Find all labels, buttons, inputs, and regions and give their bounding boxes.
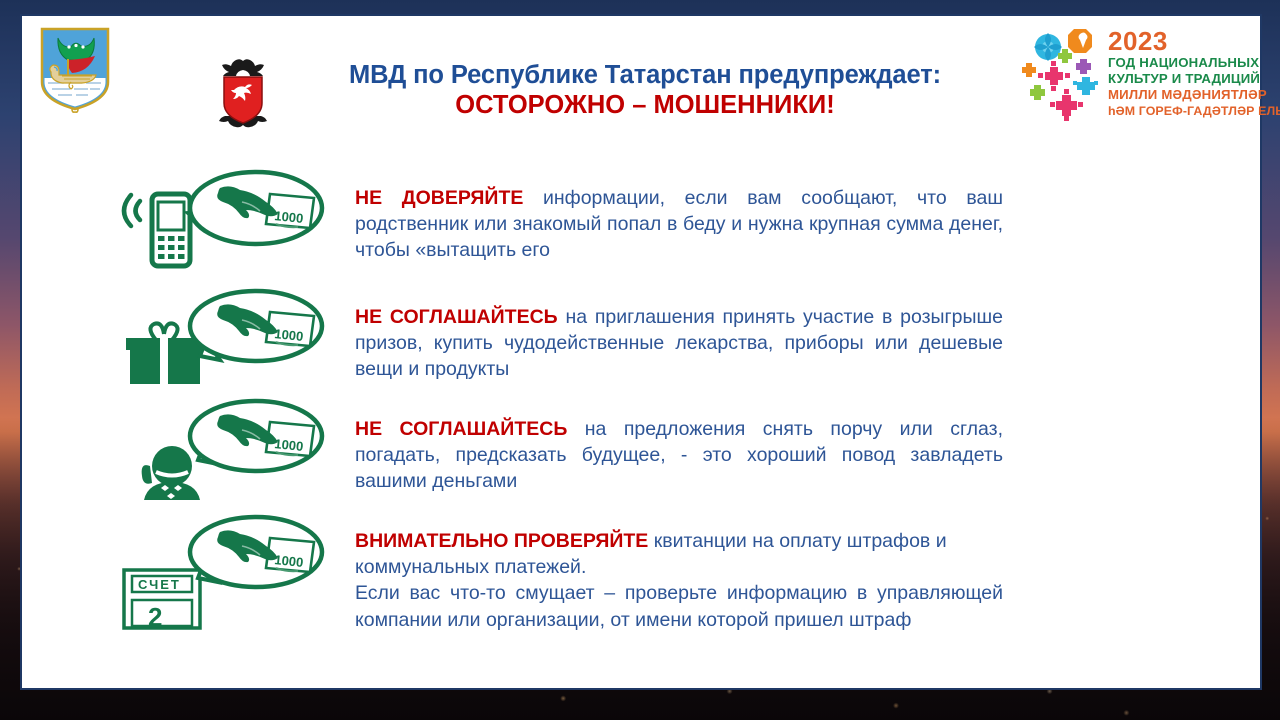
svg-text:МИЛЛИ МӘДӘНИЯТЛӘР: МИЛЛИ МӘДӘНИЯТЛӘР bbox=[1108, 87, 1267, 102]
svg-text:1000: 1000 bbox=[274, 326, 304, 344]
mvd-emblem-icon bbox=[216, 58, 270, 130]
fortune-teller-scam-icon: 1000 bbox=[114, 400, 334, 510]
svg-text:2: 2 bbox=[148, 602, 162, 632]
advice-lead: НЕ СОГЛАШАЙТЕСЬ bbox=[355, 306, 558, 328]
gift-prize-scam-icon: 1000 bbox=[114, 288, 334, 398]
advice-body-2: Если вас что-то смущает – проверьте инфо… bbox=[355, 580, 1003, 632]
kazan-coat-of-arms-icon bbox=[38, 26, 112, 112]
svg-text:КУЛЬТУР И ТРАДИЦИЙ: КУЛЬТУР И ТРАДИЦИЙ bbox=[1108, 71, 1260, 86]
advice-text: ВНИМАТЕЛЬНО ПРОВЕРЯЙТЕ квитанции на опла… bbox=[355, 528, 1003, 633]
svg-text:1000: 1000 bbox=[274, 436, 304, 454]
advice-lead: НЕ ДОВЕРЯЙТЕ bbox=[355, 187, 523, 209]
advice-lead: НЕ СОГЛАШАЙТЕСЬ bbox=[355, 418, 567, 440]
invoice-scam-icon: СЧЕТ 2 1000 bbox=[114, 514, 334, 634]
svg-text:һӘМ ГОРЕФ-ГАДӘТЛӘР ЕЛЫ: һӘМ ГОРЕФ-ГАДӘТЛӘР ЕЛЫ bbox=[1108, 104, 1280, 118]
svg-text:СЧЕТ: СЧЕТ bbox=[138, 577, 181, 592]
svg-text:2023: 2023 bbox=[1108, 26, 1168, 56]
year-2023-logo-icon: 2023 ГОД НАЦИОНАЛЬНЫХ КУЛЬТУР И ТРАДИЦИЙ… bbox=[1022, 23, 1254, 127]
advice-text: НЕ СОГЛАШАЙТЕСЬ на приглашения принять у… bbox=[355, 304, 1003, 383]
page-title: МВД по Республике Татарстан предупреждае… bbox=[280, 60, 1010, 120]
advice-text: НЕ СОГЛАШАЙТЕСЬ на предложения снять пор… bbox=[355, 416, 1003, 495]
svg-text:ГОД НАЦИОНАЛЬНЫХ: ГОД НАЦИОНАЛЬНЫХ bbox=[1108, 55, 1259, 70]
title-line-2: ОСТОРОЖНО – МОШЕННИКИ! bbox=[280, 90, 1010, 120]
svg-text:1000: 1000 bbox=[274, 552, 304, 570]
mobile-phone-scam-icon: 1000 bbox=[114, 168, 334, 278]
advice-text: НЕ ДОВЕРЯЙТЕ информации, если вам сообща… bbox=[355, 185, 1003, 264]
title-line-1: МВД по Республике Татарстан предупреждае… bbox=[280, 60, 1010, 90]
slide-card: МВД по Республике Татарстан предупреждае… bbox=[20, 14, 1262, 690]
advice-lead: ВНИМАТЕЛЬНО ПРОВЕРЯЙТЕ bbox=[355, 530, 648, 552]
svg-text:1000: 1000 bbox=[274, 208, 304, 226]
slide-header: МВД по Республике Татарстан предупреждае… bbox=[22, 16, 1260, 142]
